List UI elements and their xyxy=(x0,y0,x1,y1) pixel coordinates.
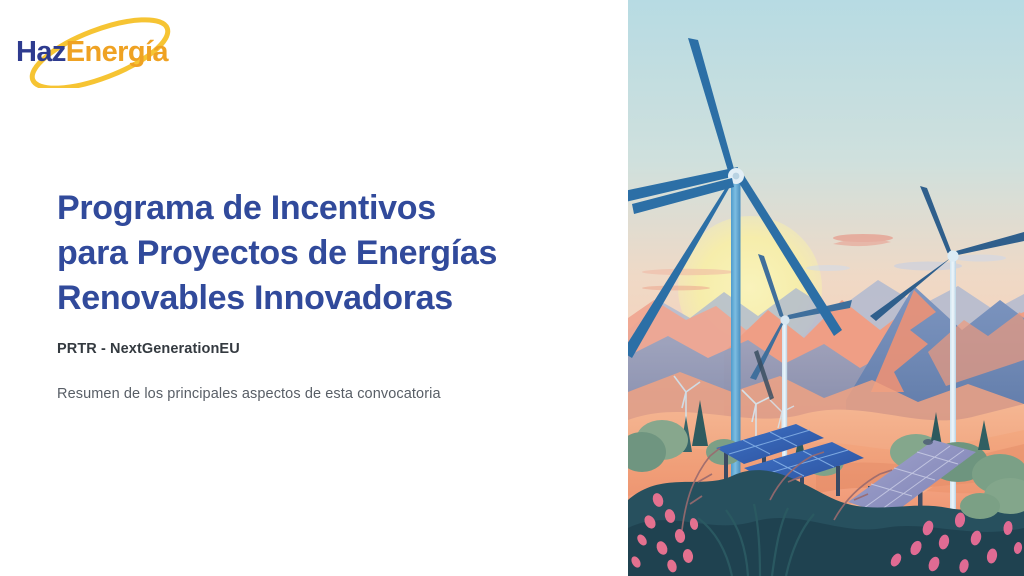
summary-caption: Resumen de los principales aspectos de e… xyxy=(57,386,441,402)
logo-word-primary: Haz xyxy=(16,36,66,68)
page-title-line-2: para Proyectos de Energías xyxy=(57,231,597,276)
bush xyxy=(960,493,1000,519)
page-title-line-1: Programa de Incentivos xyxy=(57,186,597,231)
programme-subtitle: PRTR - NextGenerationEU xyxy=(57,341,240,357)
text-panel: HazEnergía Programa de Incentivos para P… xyxy=(0,0,628,576)
slide-root: HazEnergía Programa de Incentivos para P… xyxy=(0,0,1024,576)
landscape-illustration-svg xyxy=(628,0,1024,576)
page-title: Programa de Incentivos para Proyectos de… xyxy=(57,186,597,321)
logo-wordmark: HazEnergía xyxy=(16,37,188,67)
page-title-line-3: Renovables Innovadoras xyxy=(57,276,597,321)
hazenergia-logo[interactable]: HazEnergía xyxy=(12,14,188,88)
landscape-illustration xyxy=(628,0,1024,576)
logo-word-secondary: Energía xyxy=(66,36,168,68)
